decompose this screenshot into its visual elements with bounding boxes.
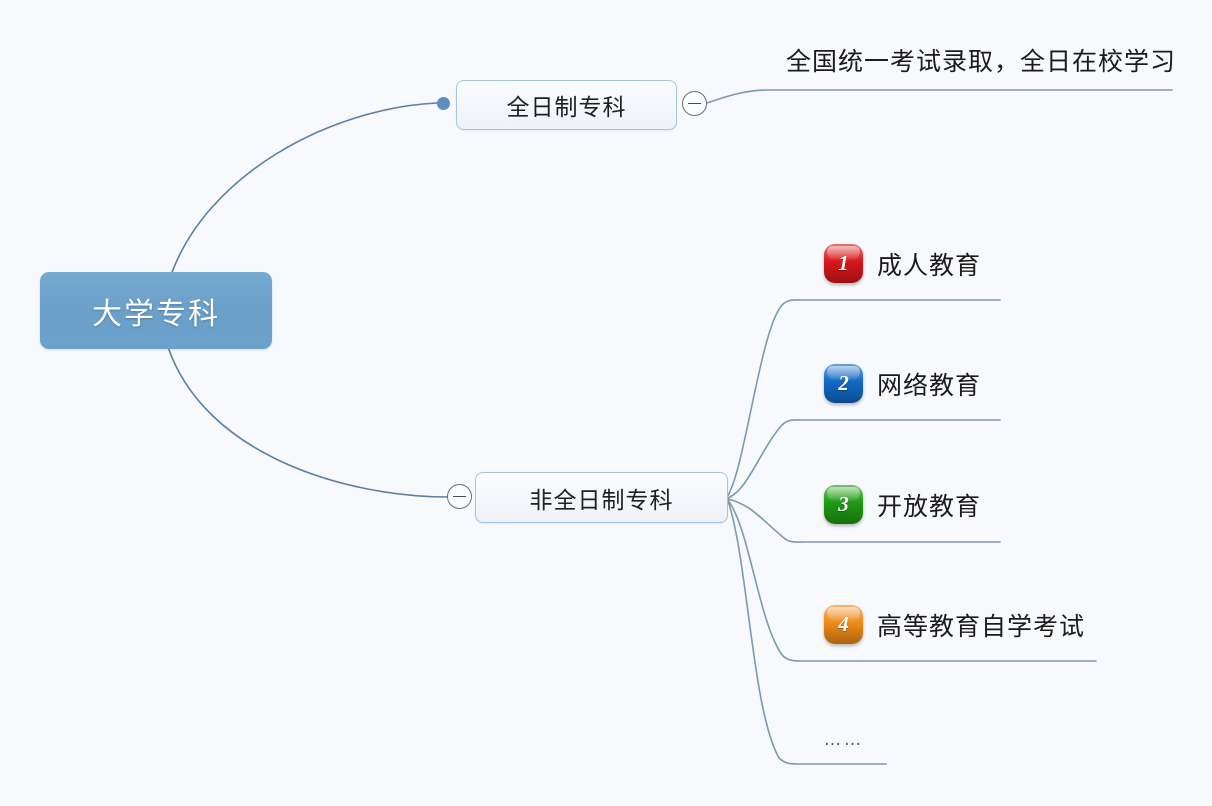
badge-number-3-label: 3 <box>838 492 849 517</box>
leaf-node-3[interactable]: 3 开放教育 <box>824 485 981 524</box>
badge-number-1-icon: 1 <box>824 244 863 283</box>
leaf-node-3-label: 开放教育 <box>877 487 981 523</box>
branch-node-parttime-label: 非全日制专科 <box>530 481 674 515</box>
badge-number-2-icon: 2 <box>824 364 863 403</box>
leaf-node-4-label: 高等教育自学考试 <box>877 607 1085 643</box>
mindmap-canvas: 大学专科 全日制专科 全国统一考试录取，全日在校学习 非全日制专科 1 成人教育… <box>0 0 1212 806</box>
collapse-toggle-parttime-minus-icon[interactable] <box>447 484 472 509</box>
root-node[interactable]: 大学专科 <box>40 272 272 349</box>
edge-root-to-parttime <box>168 347 449 497</box>
leaf-node-2-label: 网络教育 <box>877 366 981 402</box>
badge-number-4-icon: 4 <box>824 605 863 644</box>
edge-root-to-fulltime <box>170 103 437 278</box>
branch-connector-dot-fulltime <box>437 97 450 110</box>
badge-number-2-label: 2 <box>838 371 849 396</box>
root-node-label: 大学专科 <box>92 289 220 333</box>
badge-number-1-label: 1 <box>838 251 849 276</box>
branch-node-parttime[interactable]: 非全日制专科 <box>475 472 728 523</box>
collapse-toggle-fulltime-minus-icon[interactable] <box>682 91 707 116</box>
branch-node-fulltime[interactable]: 全日制专科 <box>456 80 677 130</box>
leaf-node-4[interactable]: 4 高等教育自学考试 <box>824 605 1085 644</box>
branch-node-fulltime-label: 全日制专科 <box>507 88 627 122</box>
leaf-node-5-label: …… <box>824 730 864 750</box>
leaf-node-2[interactable]: 2 网络教育 <box>824 364 981 403</box>
edge-fulltime-note <box>707 90 1172 103</box>
badge-number-3-icon: 3 <box>824 485 863 524</box>
badge-number-4-label: 4 <box>838 612 849 637</box>
note-fulltime: 全国统一考试录取，全日在校学习 <box>786 42 1176 78</box>
leaf-node-5[interactable]: …… <box>824 730 864 750</box>
leaf-node-1-label: 成人教育 <box>877 246 981 282</box>
leaf-node-1[interactable]: 1 成人教育 <box>824 244 981 283</box>
